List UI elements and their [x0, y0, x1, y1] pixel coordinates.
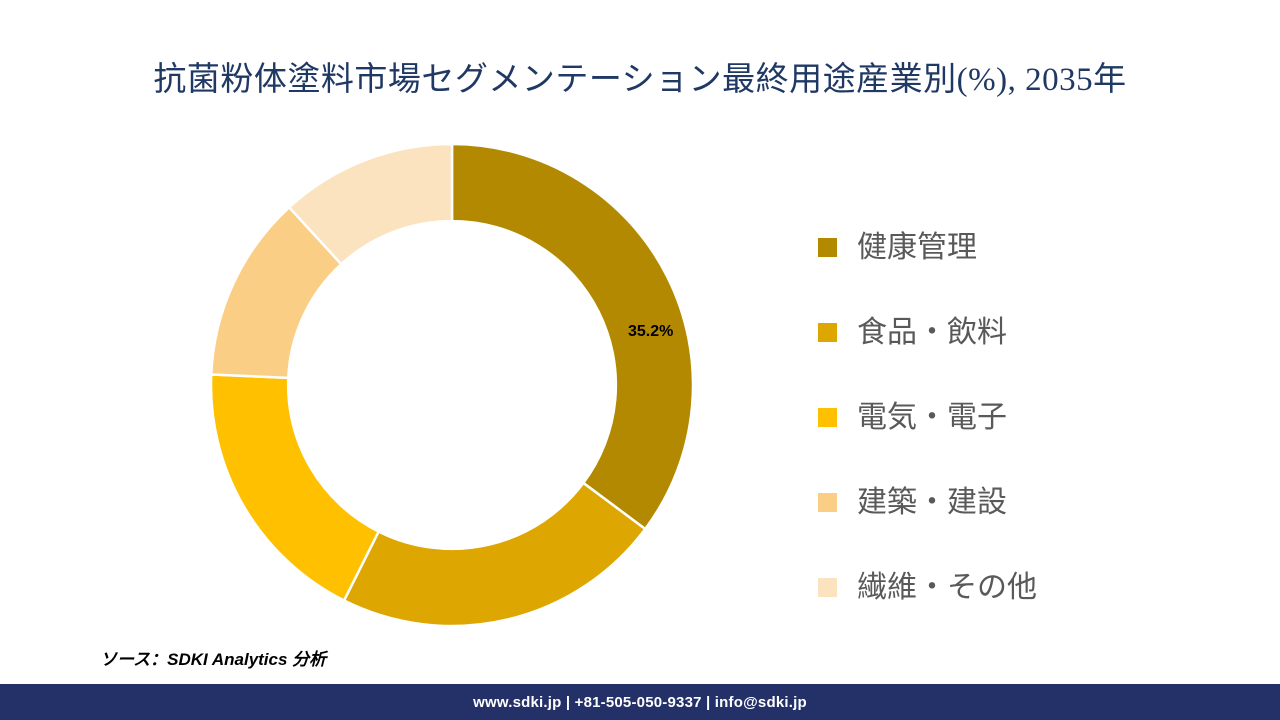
- donut-chart: [210, 143, 694, 627]
- footer-bar: www.sdki.jp | +81-505-050-9337 | info@sd…: [0, 684, 1280, 720]
- legend-swatch-icon-building-construction: [818, 493, 837, 512]
- legend-item-building-construction[interactable]: 建築・建設: [818, 460, 1118, 545]
- legend-swatch-icon-electrical-electronics: [818, 408, 837, 427]
- legend-label-food-beverage: 食品・飲料: [857, 318, 1007, 348]
- legend-label-electrical-electronics: 電気・電子: [857, 403, 1007, 433]
- legend-swatch-icon-textile-others: [818, 578, 837, 597]
- chart-legend: 健康管理 食品・飲料 電気・電子 建築・建設 繊維・その他: [818, 205, 1118, 630]
- slice-data-label-healthcare: 35.2%: [628, 323, 673, 341]
- legend-item-healthcare[interactable]: 健康管理: [818, 205, 1118, 290]
- legend-label-building-construction: 建築・建設: [857, 488, 1007, 518]
- legend-item-textile-others[interactable]: 繊維・その他: [818, 545, 1118, 630]
- legend-item-electrical-electronics[interactable]: 電気・電子: [818, 375, 1118, 460]
- source-note: ソース：SDKI Analytics 分析: [100, 645, 326, 670]
- footer-contact-text: www.sdki.jp | +81-505-050-9337 | info@sd…: [473, 694, 807, 711]
- legend-label-textile-others: 繊維・その他: [857, 573, 1037, 603]
- donut-slice-2[interactable]: [344, 483, 645, 626]
- donut-slice-group: [211, 144, 693, 626]
- donut-slice-3[interactable]: [211, 374, 379, 600]
- page-title: 抗菌粉体塗料市場セグメンテーション最終用途産業別(%), 2035年: [0, 52, 1280, 100]
- legend-item-food-beverage[interactable]: 食品・飲料: [818, 290, 1118, 375]
- legend-label-healthcare: 健康管理: [857, 233, 977, 263]
- legend-swatch-icon-healthcare: [818, 238, 837, 257]
- donut-chart-svg: [210, 143, 694, 627]
- legend-swatch-icon-food-beverage: [818, 323, 837, 342]
